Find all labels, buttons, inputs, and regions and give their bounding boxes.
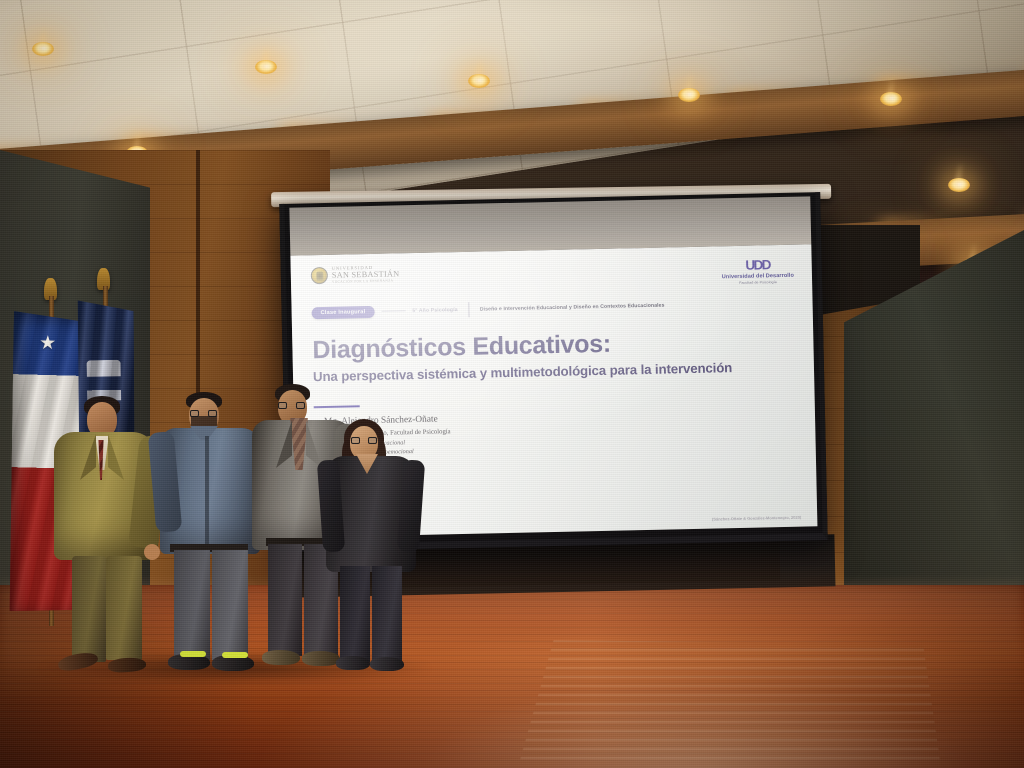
slide-subtitle: Una perspectiva sistémica y multimetodol… xyxy=(313,360,796,384)
slide-title: Diagnósticos Educativos: xyxy=(312,328,795,364)
udd-wordmark: UDD xyxy=(721,258,793,273)
shoe-left xyxy=(57,650,99,673)
person-black-top xyxy=(322,420,422,682)
leg-left xyxy=(174,550,210,660)
slide-logo-row: UNIVERSIDAD SAN SEBASTIÁN VOCACIÓN POR L… xyxy=(311,257,794,294)
eyeglasses-icon xyxy=(189,410,219,418)
leg-left xyxy=(340,566,370,662)
sneaker-left xyxy=(168,654,210,670)
slide-meta-row: Clase Inaugural 5° Año Psicología | Dise… xyxy=(311,294,794,323)
eyeglasses-icon xyxy=(278,402,307,410)
eyeglasses-icon xyxy=(351,437,378,445)
ceiling-downlight xyxy=(948,178,970,192)
leg-right xyxy=(372,566,402,662)
course-year-label: 5° Año Psicología xyxy=(412,307,458,314)
shoe-left xyxy=(336,656,370,670)
ceiling-downlight xyxy=(678,88,700,102)
auditorium-photo: UNIVERSIDAD SAN SEBASTIÁN VOCACIÓN POR L… xyxy=(0,0,1024,768)
clase-inaugural-badge: Clase Inaugural xyxy=(312,306,375,319)
crest-icon xyxy=(311,267,328,284)
leg-left xyxy=(268,544,302,656)
course-detail-label: Diseño e Intervención Educacional y Dise… xyxy=(480,302,665,312)
shirt-placket xyxy=(205,436,209,548)
meta-divider-rule xyxy=(381,311,405,313)
universidad-del-desarrollo-logo: UDD Universidad del Desarrollo Facultad … xyxy=(721,258,794,285)
uss-logo-line3: VOCACIÓN POR LA ENSEÑANZA xyxy=(332,279,400,284)
udd-logo-line2: Facultad de Psicología xyxy=(722,280,794,286)
leg-left xyxy=(72,556,106,662)
meta-separator: | xyxy=(467,301,472,319)
shoe-left xyxy=(262,650,300,665)
ceiling-downlight xyxy=(880,92,902,106)
ceiling-downlight xyxy=(255,60,277,74)
leg-right xyxy=(106,556,142,660)
ceiling-downlight xyxy=(32,42,54,56)
universidad-san-sebastian-logo: UNIVERSIDAD SAN SEBASTIÁN VOCACIÓN POR L… xyxy=(311,265,400,284)
leg-right xyxy=(212,550,248,660)
shoe-right xyxy=(370,657,404,671)
shoe-right xyxy=(108,657,147,674)
ceiling-downlight xyxy=(468,74,490,88)
